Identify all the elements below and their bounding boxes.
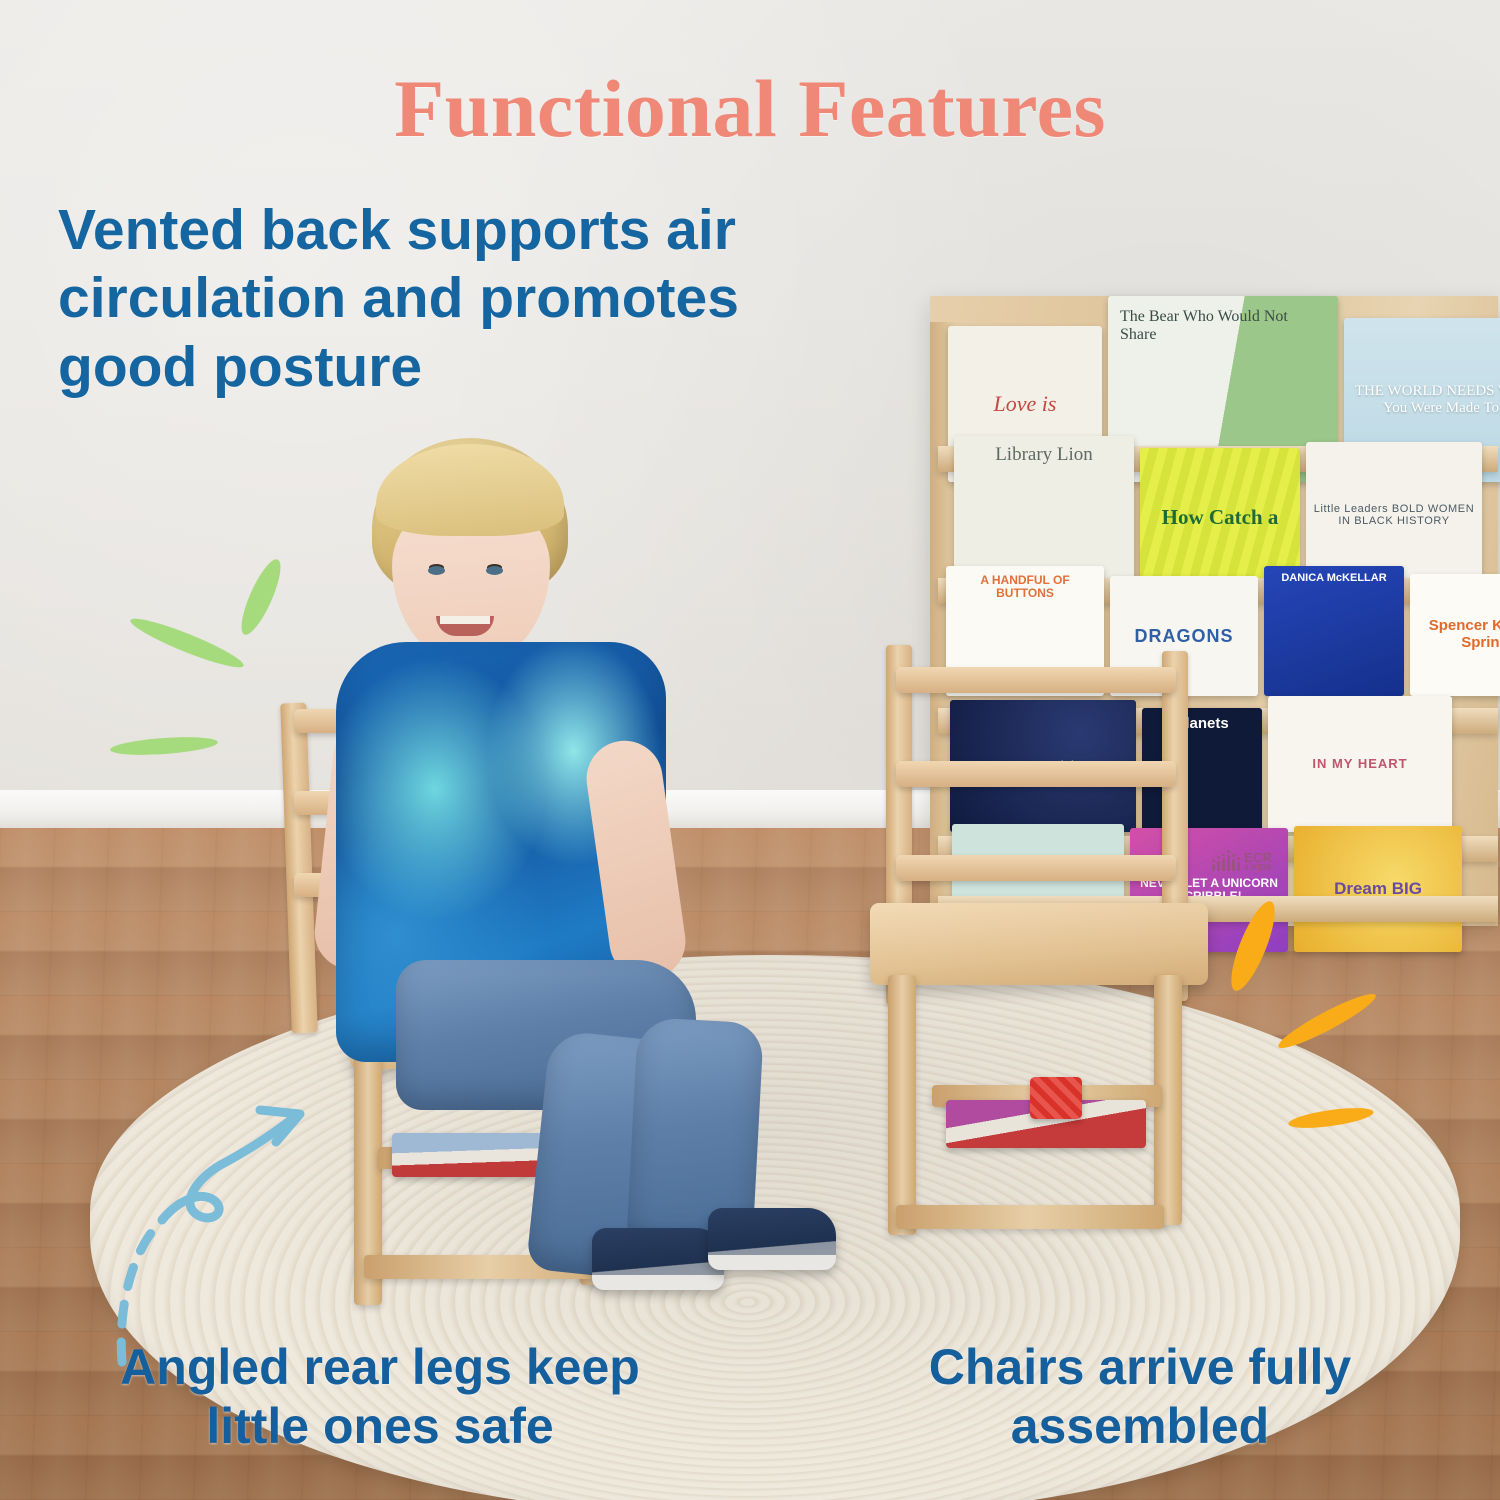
headline-text: Vented back supports air circulation and… [58,196,818,401]
blue-arrow-to-rear-leg [100,1080,340,1370]
brand-sub-text: 4 KIDS [1244,864,1272,872]
brand-name: ECR 4 KIDS [1244,852,1272,872]
chair-empty [870,645,1240,1270]
chair-foot-rail [896,1205,1164,1229]
book-cover: IN MY HEART [1268,696,1452,832]
chair-front-leg-left [888,975,916,1235]
chair-back-slat-middle [896,761,1176,787]
book-cover: Spencer Knows Spring [1410,574,1500,696]
child-shoe-left [592,1228,724,1290]
child-shoe-right [708,1208,836,1270]
product-feature-image: Love is The Bear Who Would Not Share THE… [0,0,1500,1500]
book-cover: DANICA McKELLAR [1264,566,1404,696]
toy-cube [1030,1077,1082,1119]
chair-back-slat-top [896,667,1176,693]
child-model [300,420,820,1300]
page-title: Functional Features [0,62,1500,156]
child-bangs [376,444,564,536]
caption-fully-assembled: Chairs arrive fully assembled [860,1338,1420,1456]
child-eye-left [428,566,445,575]
book-cover: Dream BIG [1294,826,1462,952]
caption-angled-rear-legs: Angled rear legs keep little ones safe [70,1338,690,1456]
child-eye-right [486,566,503,575]
chair-seat [870,903,1208,985]
chair-back-slat-bottom [896,855,1176,881]
